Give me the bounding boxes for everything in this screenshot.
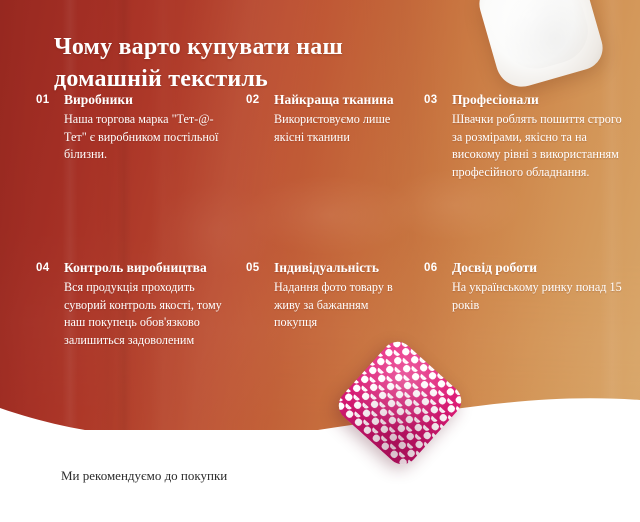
benefit-heading: Найкраща тканина <box>274 92 414 109</box>
benefit-description: На українському ринку понад 15 років <box>452 279 624 314</box>
benefits-row-top: 01 Виробники Наша торгова марка "Тет-@-Т… <box>0 92 640 260</box>
benefit-item-01: 01 Виробники Наша торгова марка "Тет-@-Т… <box>36 92 234 164</box>
benefit-description: Швачки роблять пошиття строго за розміра… <box>452 111 624 182</box>
benefit-description: Надання фото товару в живу за бажанням п… <box>274 279 414 332</box>
benefits-row-bottom: 04 Контроль виробництва Вся продукція пр… <box>0 260 640 428</box>
benefit-description: Наша торгова марка "Тет-@-Тет" є виробни… <box>64 111 234 164</box>
benefit-number: 06 <box>424 262 438 274</box>
benefit-heading: Досвід роботи <box>452 260 624 277</box>
infographic-poster: Чому варто купувати наш домашній текстил… <box>0 0 640 522</box>
benefit-heading: Контроль виробництва <box>64 260 234 277</box>
benefit-heading: Індивідуальність <box>274 260 414 277</box>
benefit-number: 04 <box>36 262 50 274</box>
benefit-body: Досвід роботи На українському ринку пона… <box>424 260 624 314</box>
benefits-grid: 01 Виробники Наша торгова марка "Тет-@-Т… <box>0 92 640 428</box>
benefit-heading: Професіонали <box>452 92 624 109</box>
benefit-body: Виробники Наша торгова марка "Тет-@-Тет"… <box>36 92 234 164</box>
benefit-number: 05 <box>246 262 260 274</box>
benefit-item-02: 02 Найкраща тканина Використовуємо лише … <box>246 92 414 146</box>
benefit-body: Найкраща тканина Використовуємо лише які… <box>246 92 414 146</box>
benefit-body: Професіонали Швачки роблять пошиття стро… <box>424 92 624 182</box>
benefit-description: Використовуємо лише якісні тканини <box>274 111 414 146</box>
benefit-item-04: 04 Контроль виробництва Вся продукція пр… <box>36 260 234 350</box>
benefit-heading: Виробники <box>64 92 234 109</box>
benefit-item-03: 03 Професіонали Швачки роблять пошиття с… <box>424 92 624 182</box>
page-title: Чому варто купувати наш домашній текстил… <box>54 32 384 96</box>
benefit-item-06: 06 Досвід роботи На українському ринку п… <box>424 260 624 314</box>
benefit-body: Індивідуальність Надання фото товару в ж… <box>246 260 414 332</box>
benefit-number: 02 <box>246 94 260 106</box>
benefit-number: 03 <box>424 94 438 106</box>
benefit-body: Контроль виробництва Вся продукція прохо… <box>36 260 234 350</box>
benefit-item-05: 05 Індивідуальність Надання фото товару … <box>246 260 414 332</box>
benefit-number: 01 <box>36 94 50 106</box>
recommendation-note: Ми рекомендуємо до покупки <box>61 466 321 486</box>
benefit-description: Вся продукція проходить суворий контроль… <box>64 279 234 350</box>
